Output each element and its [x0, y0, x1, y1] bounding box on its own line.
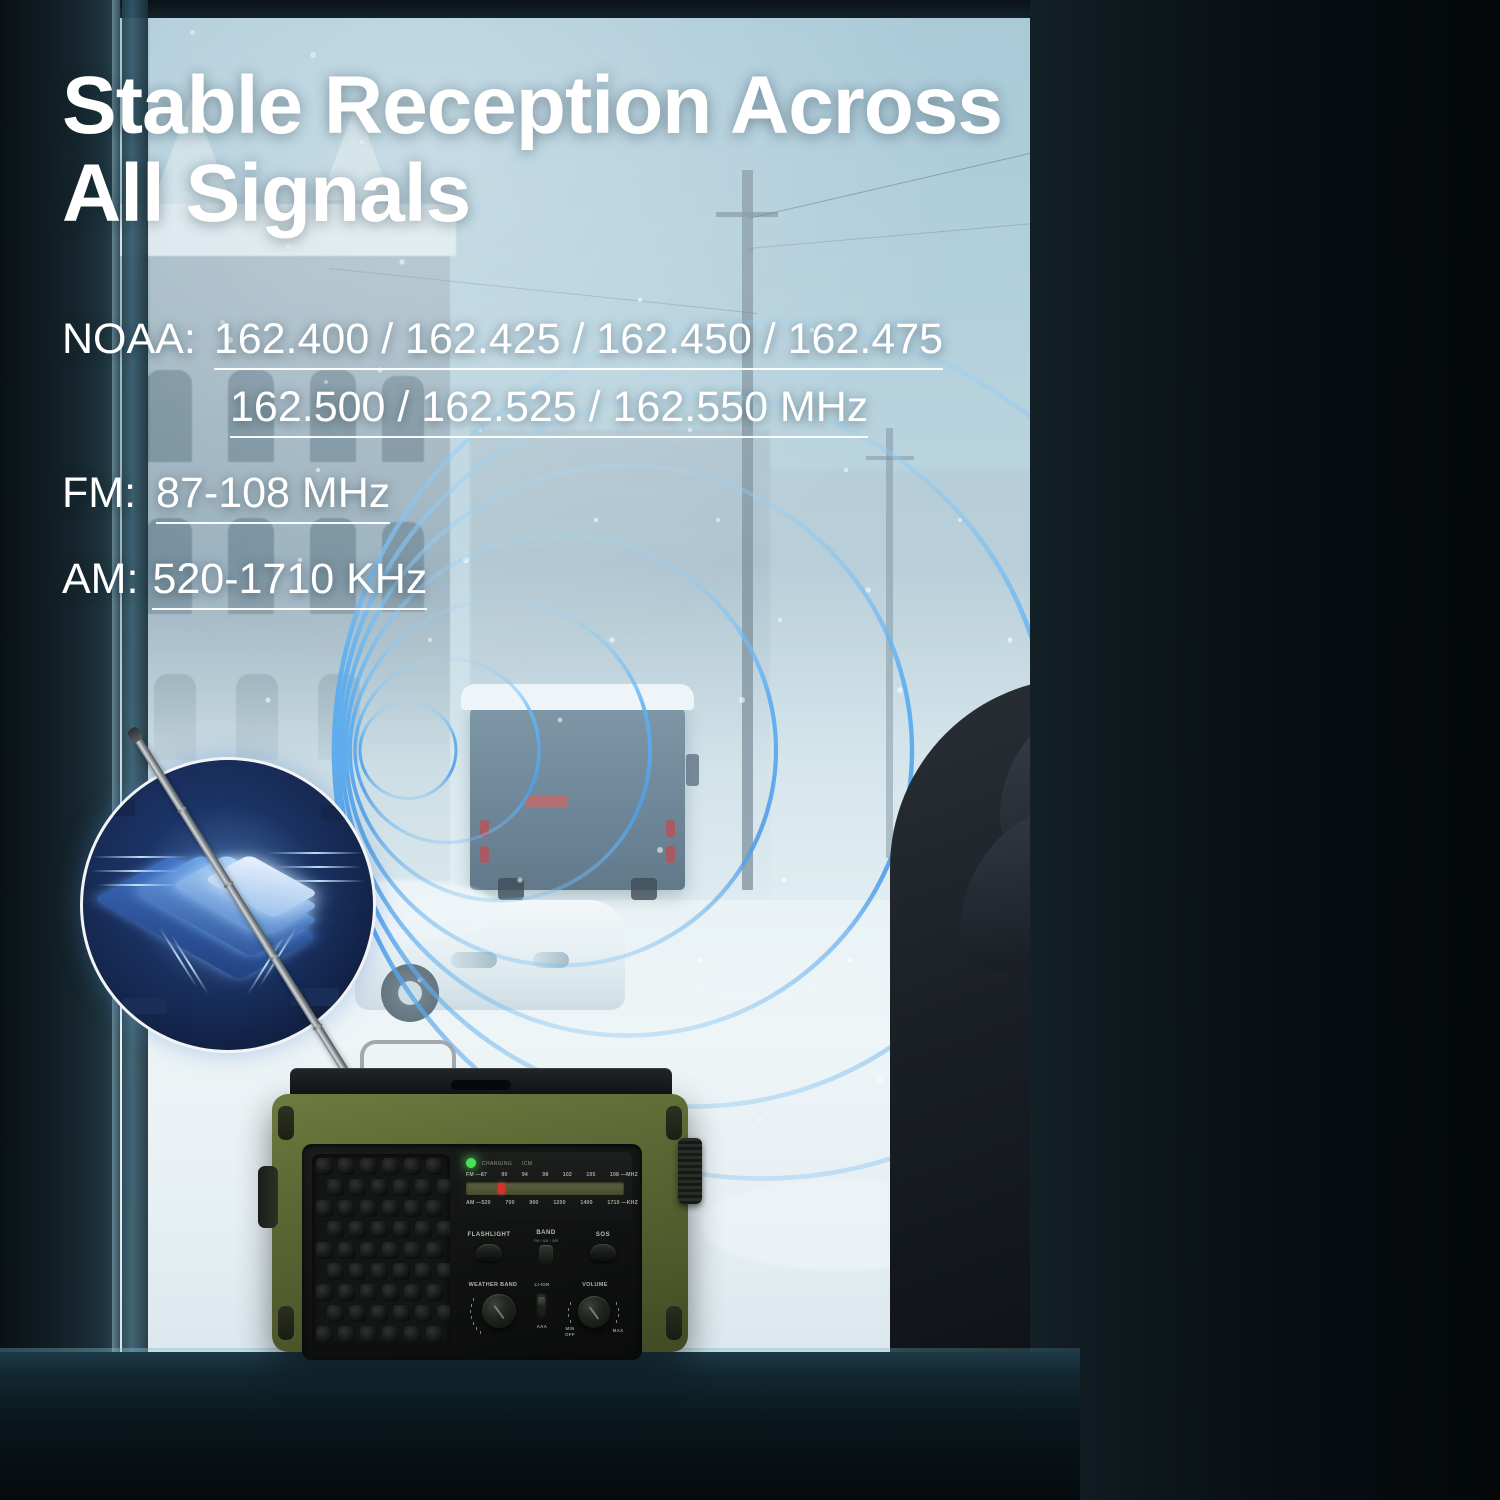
carry-handle[interactable] [360, 1040, 456, 1070]
volume-knob[interactable] [578, 1296, 610, 1328]
flashlight-label: FLASHLIGHT [460, 1232, 518, 1238]
control-faceplate: CHARGING ICM FM — 87 90 94 98 102 105 10… [302, 1144, 642, 1360]
sos-button[interactable] [590, 1244, 616, 1261]
tuning-display-panel: CHARGING ICM FM — 87 90 94 98 102 105 10… [460, 1152, 632, 1220]
am-label: AM: [62, 558, 138, 601]
fm-scale-row: FM — 87 90 94 98 102 105 108 — MHZ [466, 1172, 638, 1178]
volume-label: VOLUME [564, 1282, 626, 1288]
fm-tick: 102 [563, 1172, 572, 1178]
battery-liion-label: LI-ION [524, 1282, 560, 1287]
tuning-dial-scale[interactable] [466, 1182, 624, 1195]
volume-min-label: MIN [556, 1326, 584, 1331]
am-unit-label: KHZ [627, 1200, 638, 1206]
product-feature-image: CHARGING ICM FM — 87 90 94 98 102 105 10… [0, 0, 1500, 1500]
knob-zone: WEATHER BAND LI-ION AAA VOLUME MIN [460, 1282, 632, 1354]
am-band-label: AM [466, 1200, 474, 1206]
charging-label: CHARGING [482, 1161, 512, 1167]
fm-tick: 87 [481, 1172, 487, 1178]
fm-tick: 108 [610, 1172, 619, 1178]
am-tick: 700 [505, 1200, 514, 1206]
tuning-needle [498, 1183, 505, 1194]
noaa-spec-row-continued: 162.500 / 162.525 / 162.550 MHz [230, 386, 1062, 438]
tuning-knob-side[interactable] [678, 1138, 702, 1204]
charging-led-icon [466, 1158, 476, 1168]
volume-max-label: MAX [604, 1328, 632, 1333]
headline-line-2: All Signals [62, 150, 1292, 238]
weather-band-label: WEATHER BAND [456, 1282, 530, 1288]
circuit-chip-inset [80, 757, 376, 1053]
noaa-label: NOAA: [62, 318, 196, 361]
noaa-values-line-2: 162.500 / 162.525 / 162.550 MHz [230, 386, 868, 438]
fm-tick: 105 [586, 1172, 595, 1178]
button-row: FLASHLIGHT BAND FM / AM / WB SOS [460, 1230, 632, 1276]
weather-band-knob[interactable] [482, 1294, 516, 1328]
flashlight-button[interactable] [476, 1244, 502, 1261]
am-tick: 520 [481, 1200, 490, 1206]
fm-label: FM: [62, 472, 136, 515]
noaa-spec-row: NOAA: 162.400 / 162.425 / 162.450 / 162.… [62, 318, 1062, 370]
flashlight-lens [258, 1166, 278, 1228]
fm-unit-label: MHZ [626, 1172, 638, 1178]
fm-value: 87-108 MHz [156, 472, 390, 524]
am-tick: 1400 [580, 1200, 592, 1206]
icm-label: ICM [522, 1161, 532, 1167]
emergency-weather-radio: CHARGING ICM FM — 87 90 94 98 102 105 10… [272, 1062, 688, 1354]
band-label: BAND [518, 1230, 574, 1236]
headline-line-1: Stable Reception Across [62, 62, 1292, 150]
am-spec-row: AM: 520-1710 KHz [62, 558, 1062, 610]
sos-label: SOS [578, 1232, 628, 1238]
battery-aaa-label: AAA [524, 1324, 560, 1329]
am-tick: 1200 [553, 1200, 565, 1206]
frequency-spec-list: NOAA: 162.400 / 162.425 / 162.450 / 162.… [62, 318, 1062, 624]
volume-off-label: OFF [556, 1332, 584, 1337]
band-switch[interactable] [539, 1245, 553, 1265]
headline: Stable Reception Across All Signals [62, 62, 1292, 237]
fm-tick: 98 [542, 1172, 548, 1178]
radio-body: CHARGING ICM FM — 87 90 94 98 102 105 10… [272, 1094, 688, 1352]
fm-spec-row: FM: 87-108 MHz [62, 472, 1062, 524]
antenna-slot [451, 1080, 511, 1090]
fm-tick: 90 [501, 1172, 507, 1178]
noaa-values-line-1: 162.400 / 162.425 / 162.450 / 162.475 [214, 318, 943, 370]
am-tick: 1710 [607, 1200, 619, 1206]
am-tick: 900 [529, 1200, 538, 1206]
speaker-grille [312, 1154, 450, 1346]
fm-tick: 94 [522, 1172, 528, 1178]
battery-type-switch[interactable] [536, 1293, 547, 1319]
window-sill [0, 1352, 1080, 1500]
band-sublabel: FM / AM / WB [518, 1239, 574, 1243]
fm-band-label: FM [466, 1172, 474, 1178]
am-scale-row: AM — 520 700 900 1200 1400 1710 — KHZ [466, 1200, 638, 1206]
am-value: 520-1710 KHz [152, 558, 427, 610]
